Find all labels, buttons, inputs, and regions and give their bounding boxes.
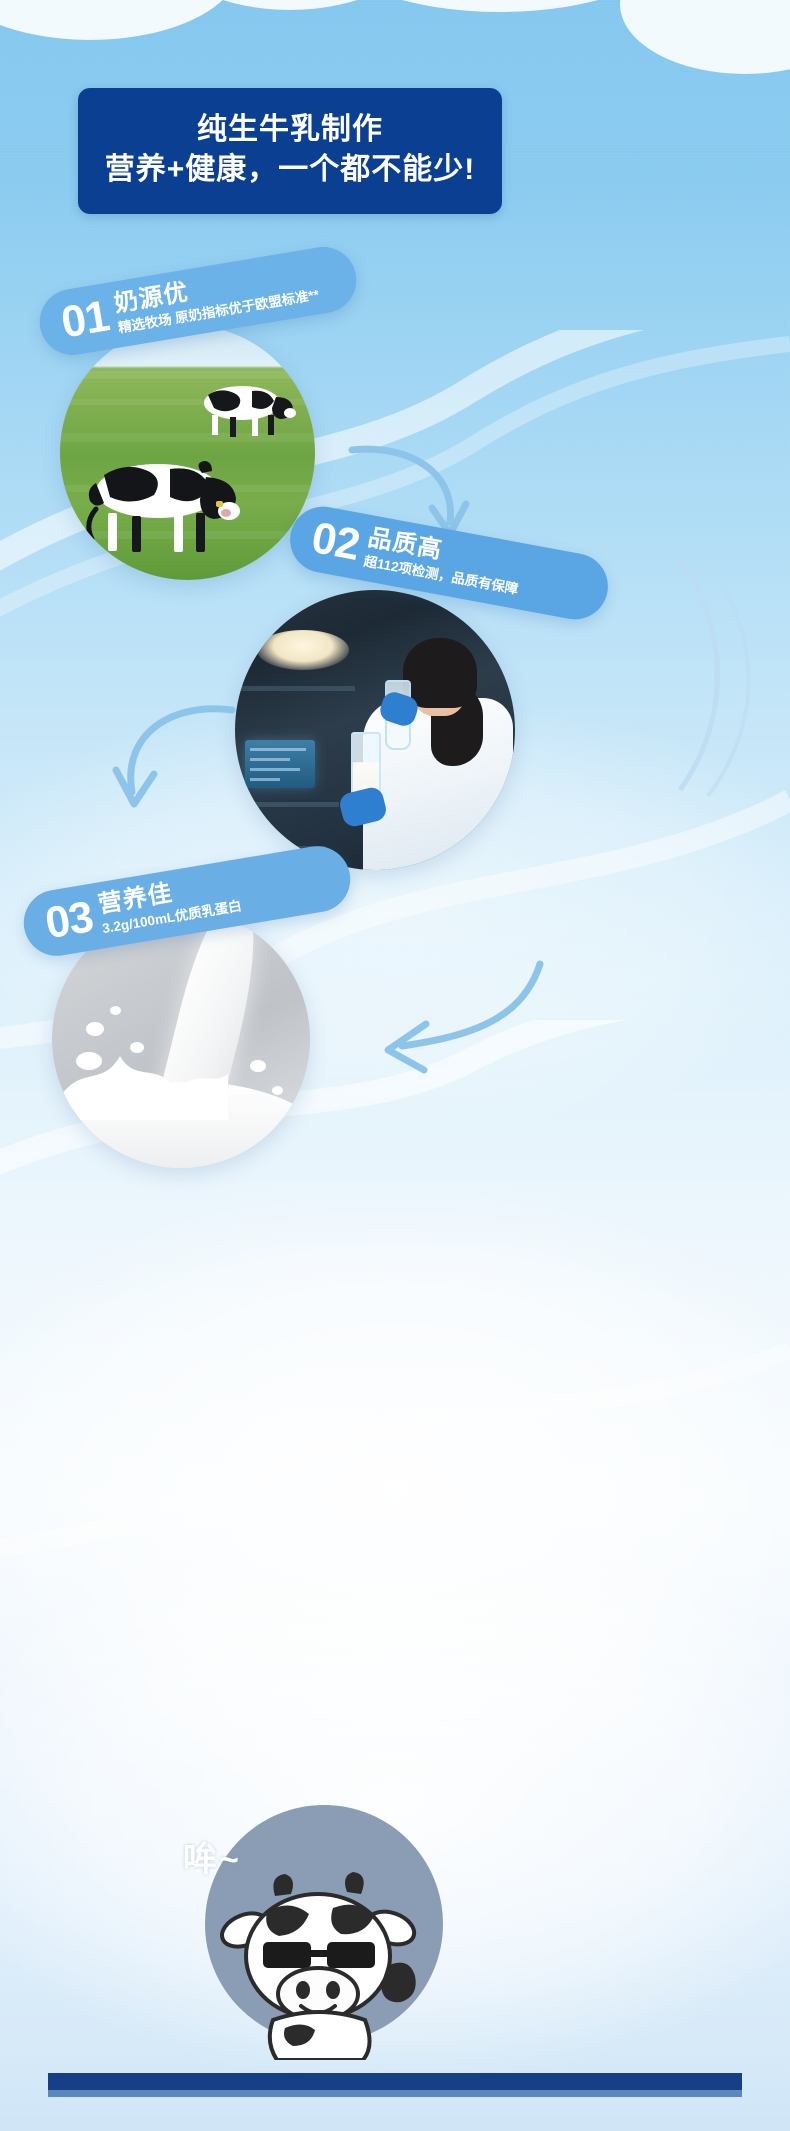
- technician-hair: [403, 638, 477, 708]
- cow-mascot: [215, 1870, 430, 2060]
- step-2-photo-lab: [235, 590, 515, 870]
- pasture-scene: [60, 325, 315, 580]
- promo-poster: 纯生牛乳制作 营养+健康，一个都不能少!: [0, 0, 790, 2131]
- laboratory-scene: [235, 590, 515, 870]
- step-number-03: 03: [42, 895, 96, 946]
- cow-foreground: [78, 453, 243, 553]
- step-1-photo-pasture: [60, 325, 315, 580]
- step-number-01: 01: [58, 294, 112, 345]
- step-number-02: 02: [308, 516, 362, 568]
- title-line-2: 营养+健康，一个都不能少!: [78, 144, 502, 188]
- bottom-accent-bar-underline: [48, 2090, 742, 2097]
- bottom-accent-bar: [48, 2073, 742, 2090]
- lab-lamp: [257, 630, 349, 670]
- cow-distant: [186, 377, 296, 439]
- title-banner: 纯生牛乳制作 营养+健康，一个都不能少!: [78, 88, 502, 214]
- title-line-1: 纯生牛乳制作: [78, 104, 502, 148]
- lab-monitor: [245, 740, 315, 788]
